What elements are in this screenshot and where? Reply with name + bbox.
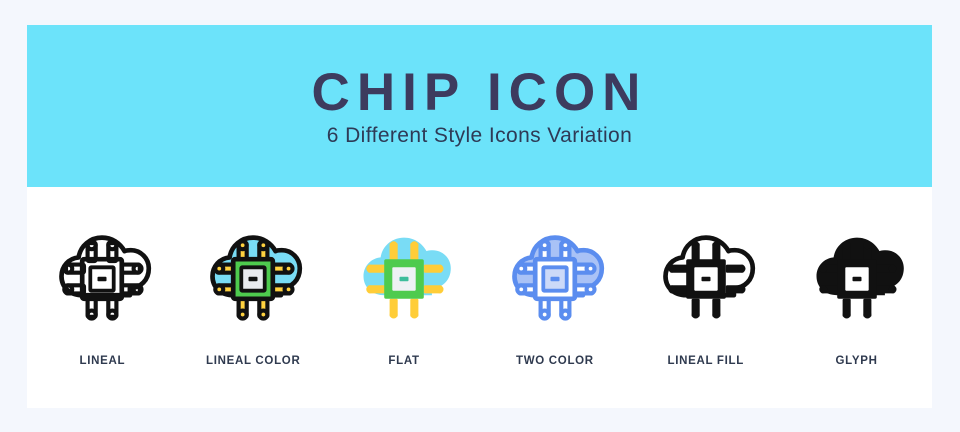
- header-band: CHIP ICON 6 Different Style Icons Variat…: [27, 25, 932, 187]
- cloud-chip-icon: [652, 225, 760, 333]
- icon-cell-lineal-color[interactable]: LINEAL COLOR: [183, 225, 323, 367]
- cloud-chip-icon: [199, 225, 307, 333]
- poster-card: CHIP ICON 6 Different Style Icons Variat…: [27, 25, 932, 408]
- icon-label: LINEAL COLOR: [206, 355, 300, 367]
- icon-cell-two-color[interactable]: TWO COLOR: [485, 225, 625, 367]
- icon-strip: LINEAL LINEAL COLOR FLAT TWO COLOR LINEA…: [27, 187, 932, 408]
- icon-cell-glyph[interactable]: GLYPH: [787, 225, 927, 367]
- cloud-chip-icon: [350, 225, 458, 333]
- icon-cell-flat[interactable]: FLAT: [334, 225, 474, 367]
- icon-label: LINEAL FILL: [667, 355, 743, 367]
- page-title: CHIP ICON: [312, 66, 648, 119]
- cloud-chip-icon: [803, 225, 911, 333]
- icon-label: LINEAL: [80, 355, 126, 367]
- icon-label: TWO COLOR: [516, 355, 594, 367]
- icon-label: FLAT: [388, 355, 419, 367]
- icon-label: GLYPH: [836, 355, 878, 367]
- icon-cell-lineal-fill[interactable]: LINEAL FILL: [636, 225, 776, 367]
- poster-page: CHIP ICON 6 Different Style Icons Variat…: [0, 0, 960, 432]
- page-subtitle: 6 Different Style Icons Variation: [327, 125, 632, 146]
- cloud-chip-icon: [48, 225, 156, 333]
- icon-cell-lineal[interactable]: LINEAL: [32, 225, 172, 367]
- cloud-chip-icon: [501, 225, 609, 333]
